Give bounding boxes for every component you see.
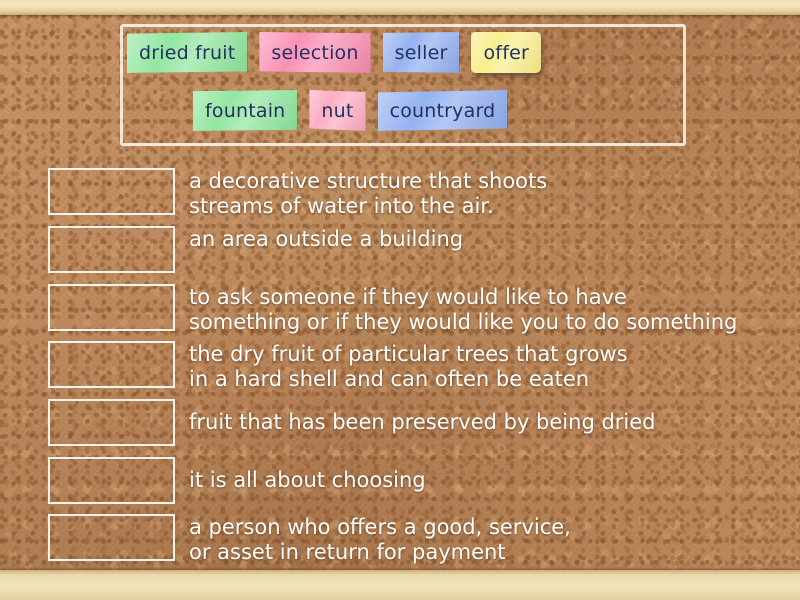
definition-text: a decorative structure that shoots strea… [189,168,547,219]
answer-drop-box[interactable] [48,168,175,215]
definition-text: it is all about choosing [189,457,426,493]
definition-row: a person who offers a good, service, or … [48,514,792,565]
definition-row: fruit that has been preserved by being d… [48,399,792,446]
answer-drop-box[interactable] [48,457,175,504]
definition-row: a decorative structure that shoots strea… [48,168,792,219]
definition-row: an area outside a building [48,226,792,273]
definition-list: a decorative structure that shoots strea… [0,0,800,600]
match-up-activity: dried fruit selection seller offer fount… [0,0,800,600]
definition-text: to ask someone if they would like to hav… [189,284,737,335]
definition-text: the dry fruit of particular trees that g… [189,341,628,392]
definition-row: it is all about choosing [48,457,792,504]
answer-drop-box[interactable] [48,399,175,446]
answer-drop-box[interactable] [48,514,175,561]
definition-row: the dry fruit of particular trees that g… [48,341,792,392]
definition-text: an area outside a building [189,226,463,252]
definition-row: to ask someone if they would like to hav… [48,284,792,335]
definition-text: fruit that has been preserved by being d… [189,399,656,435]
answer-drop-box[interactable] [48,226,175,273]
definition-text: a person who offers a good, service, or … [189,514,571,565]
wooden-frame-top [0,0,800,15]
answer-drop-box[interactable] [48,284,175,331]
answer-drop-box[interactable] [48,341,175,388]
wooden-frame-bottom [0,570,800,600]
